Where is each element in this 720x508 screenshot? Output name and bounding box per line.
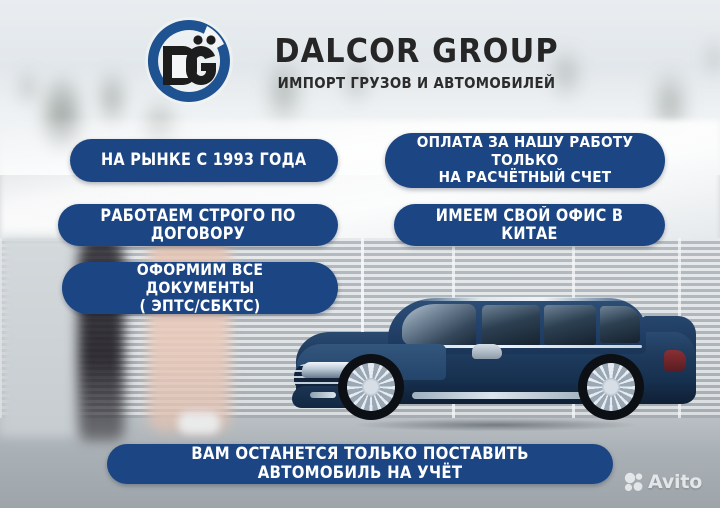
advert-poster: DALCOR GROUP ИМПОРТ ГРУЗОВ И АВТОМОБИЛЕЙ… [0,0,720,508]
badge-documents[interactable]: ОФОРМИМ ВСЕ ДОКУМЕНТЫ ( ЭПТС/СБКТС) [62,262,338,314]
car-image [292,288,704,438]
dg-logo [141,13,237,109]
badge-payment[interactable]: ОПЛАТА ЗА НАШУ РАБОТУ ТОЛЬКО НА РАСЧЁТНЫ… [385,133,665,188]
badge-registration[interactable]: ВАМ ОСТАНЕТСЯ ТОЛЬКО ПОСТАВИТЬ АВТОМОБИЛ… [107,444,613,484]
badge-market[interactable]: НА РЫНКЕ С 1993 ГОДА [70,139,338,182]
car-shadow [298,416,694,434]
background-person-shoe [178,412,220,434]
car-wheel-hub-rear [602,378,620,396]
brand-text-block: DALCOR GROUP ИМПОРТ ГРУЗОВ И АВТОМОБИЛЕЙ [255,30,578,92]
avito-label: Avito [648,473,702,492]
car-fog-light [310,392,336,398]
badge-contract-label: РАБОТАЕМ СТРОГО ПО ДОГОВОРУ [89,207,307,244]
badge-registration-label: ВАМ ОСТАНЕТСЯ ТОЛЬКО ПОСТАВИТЬ АВТОМОБИЛ… [151,445,568,483]
brand-header: DALCOR GROUP ИМПОРТ ГРУЗОВ И АВТОМОБИЛЕЙ [0,0,720,122]
car-wheel-rear [578,354,644,420]
car-windshield [402,304,476,346]
car-window-rear [544,305,596,345]
car-window-quarter [600,306,640,343]
avito-dots-icon [624,472,644,492]
badge-payment-label: ОПЛАТА ЗА НАШУ РАБОТУ ТОЛЬКО НА РАСЧЁТНЫ… [416,134,634,186]
car-wheel-front [338,354,404,420]
car-wheel-hub-front [362,378,380,396]
brand-name: DALCOR GROUP [275,34,559,67]
badge-office[interactable]: ИМЕЕМ СВОЙ ОФИС В КИТАЕ [394,204,665,246]
dg-monogram-ring-icon [141,13,237,109]
car-roof-rail [418,297,626,301]
badge-market-label: НА РЫНКЕ С 1993 ГОДА [101,151,306,169]
badge-office-label: ИМЕЕМ СВОЙ ОФИС В КИТАЕ [424,207,634,244]
brand-subtitle: ИМПОРТ ГРУЗОВ И АВТОМОБИЛЕЙ [278,76,556,92]
badge-contract[interactable]: РАБОТАЕМ СТРОГО ПО ДОГОВОРУ [58,204,338,246]
car-window-front [482,305,540,346]
car-tail-light [664,350,686,372]
car-side-mirror [472,344,502,359]
avito-watermark: Avito [624,472,702,492]
badge-documents-label: ОФОРМИМ ВСЕ ДОКУМЕНТЫ ( ЭПТС/СБКТС) [93,261,308,315]
